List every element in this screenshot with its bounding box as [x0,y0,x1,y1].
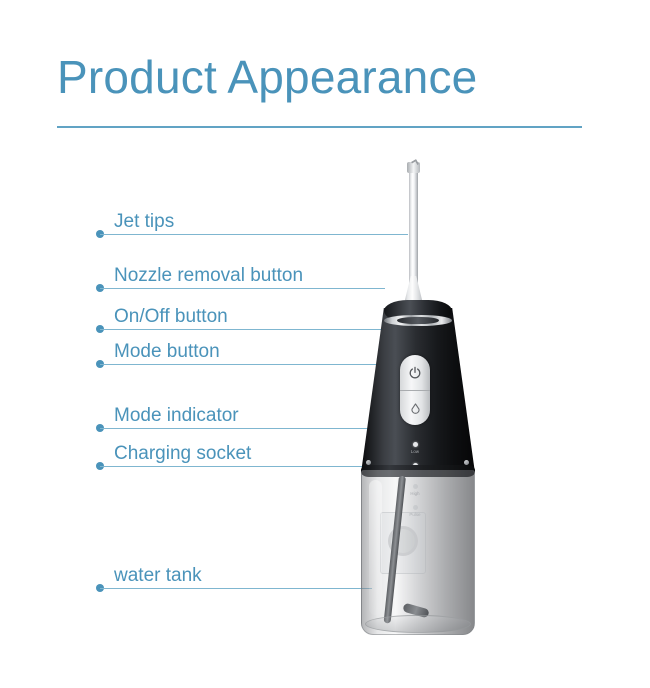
tank-highlight [369,480,382,615]
page-title: Product Appearance [57,52,477,103]
mode-button[interactable] [400,390,430,425]
power-icon [408,366,422,380]
callout-label: Charging socket [114,444,251,463]
nozzle-removal-button-inner [397,317,439,324]
callout-label: On/Off button [114,307,228,326]
callout-label: water tank [114,566,202,585]
mode-led-label: Low [395,450,435,454]
callout-rule [100,466,368,467]
title-divider [57,126,582,128]
callout-label: Mode indicator [114,406,239,425]
tank-base [365,615,471,633]
callout-label: Mode button [114,342,220,361]
callout-label: Nozzle removal button [114,266,303,285]
mode-led-low [413,442,418,447]
water-drop-icon [409,402,422,415]
product-illustration: Low Medium High Pulse [343,160,493,645]
callout-label: Jet tips [114,212,174,231]
on-off-button[interactable] [400,355,430,390]
callout-rule [100,588,372,589]
jet-tip [409,168,418,288]
